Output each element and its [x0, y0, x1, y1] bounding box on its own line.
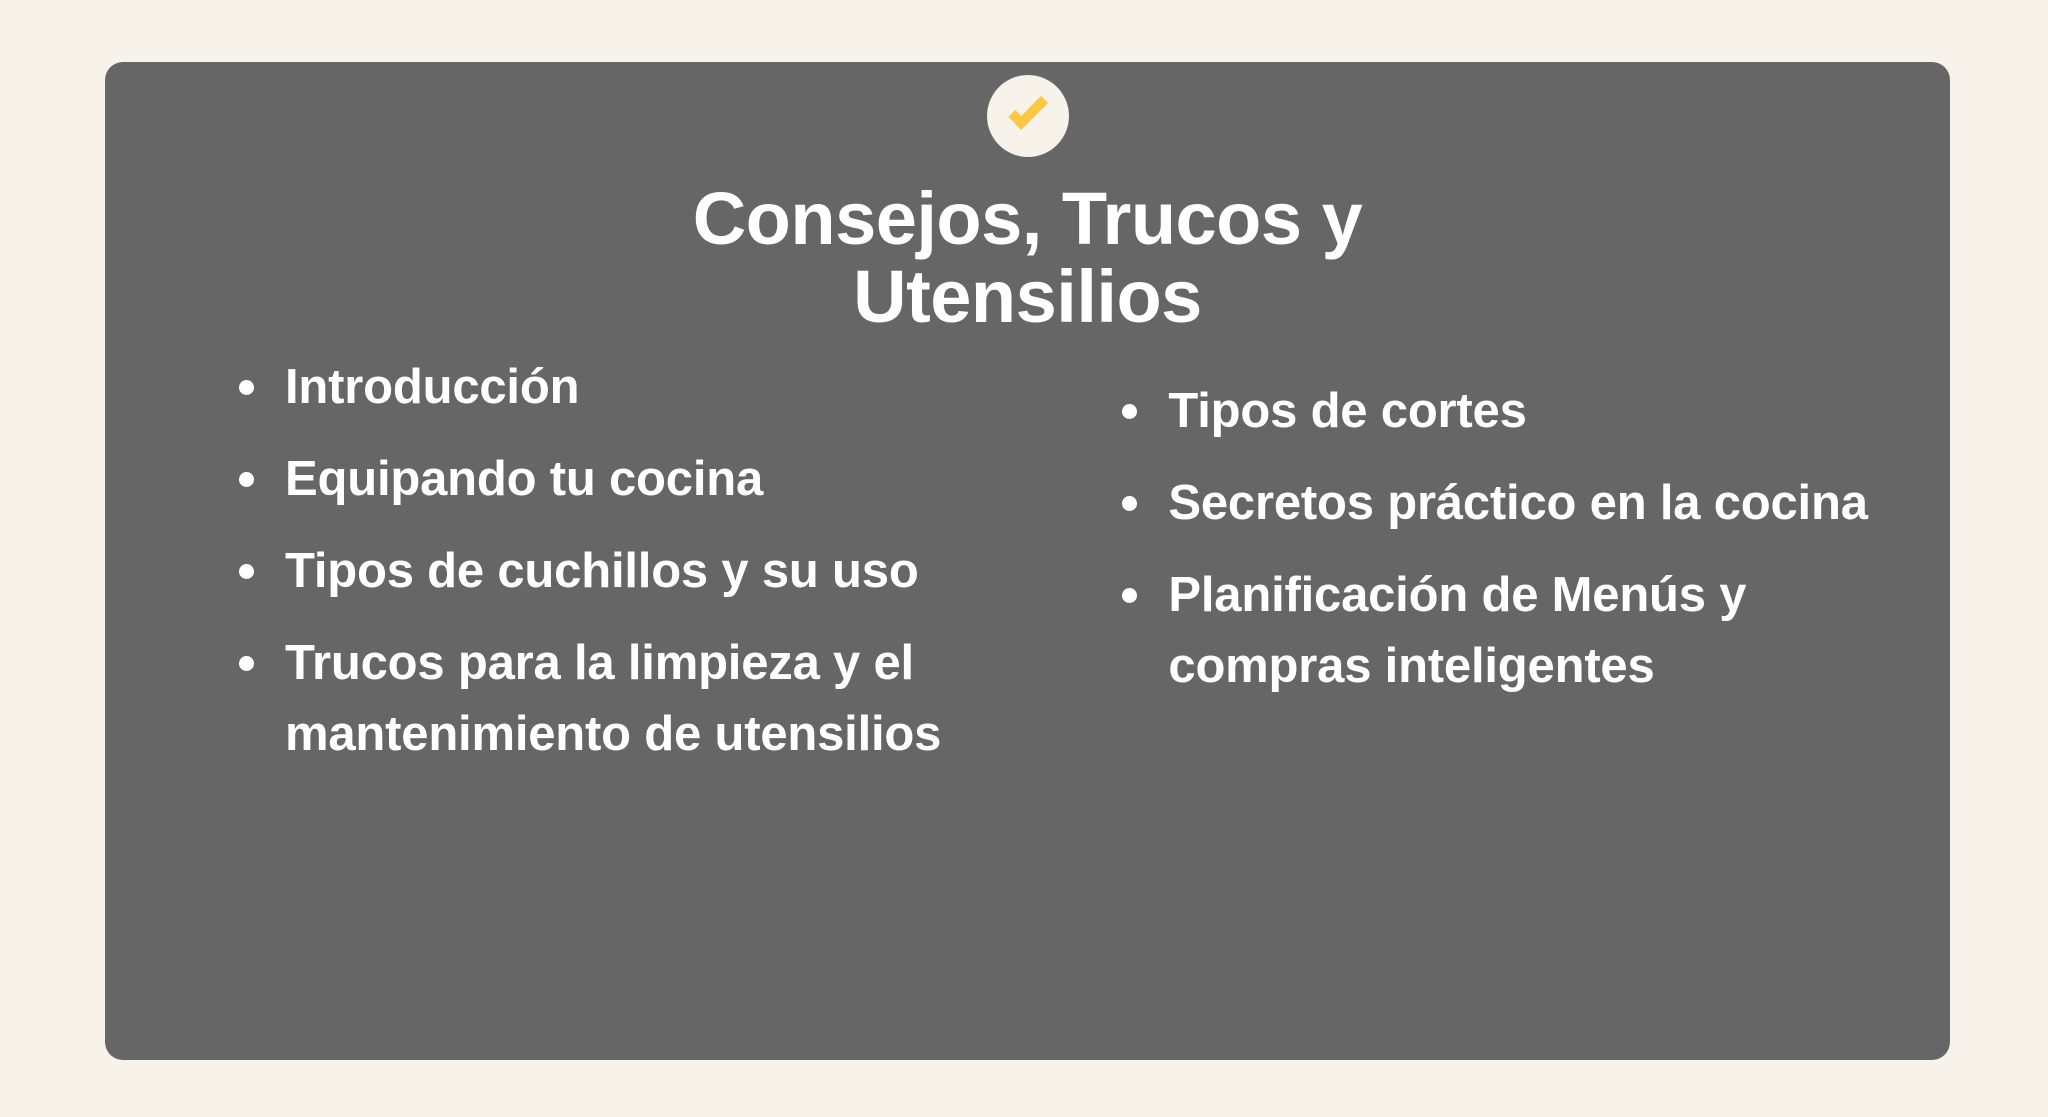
list-item-label: Trucos para la limpieza y el mantenimien…: [285, 636, 941, 761]
list-item: Tipos de cuchillos y su uso: [233, 536, 1034, 607]
list-item: Introducción: [233, 352, 1034, 423]
list-item: Equipando tu cocina: [233, 444, 1034, 515]
content-card: Consejos, Trucos y Utensilios Introducci…: [105, 62, 1950, 1060]
list-item-label: Tipos de cortes: [1168, 384, 1526, 438]
right-bullet-list: Tipos de cortes Secretos práctico en la …: [1116, 376, 1890, 702]
list-item: Planificación de Menús y compras intelig…: [1116, 560, 1890, 702]
left-bullet-list: Introducción Equipando tu cocina Tipos d…: [233, 352, 1034, 770]
list-item-label: Secretos práctico en la cocina: [1168, 476, 1867, 530]
list-item: Trucos para la limpieza y el mantenimien…: [233, 628, 1034, 770]
page-title: Consejos, Trucos y Utensilios: [105, 180, 1950, 337]
list-item-label: Planificación de Menús y compras intelig…: [1168, 568, 1746, 693]
list-item: Secretos práctico en la cocina: [1116, 468, 1890, 539]
list-item-label: Introducción: [285, 360, 579, 414]
check-circle-icon: [987, 75, 1069, 157]
list-item-label: Tipos de cuchillos y su uso: [285, 544, 919, 598]
list-item-label: Equipando tu cocina: [285, 452, 763, 506]
right-column: Tipos de cortes Secretos práctico en la …: [1064, 352, 1950, 723]
left-column: Introducción Equipando tu cocina Tipos d…: [105, 352, 1064, 791]
list-item: Tipos de cortes: [1116, 376, 1890, 447]
slide-root: Consejos, Trucos y Utensilios Introducci…: [0, 0, 2048, 1117]
bullet-columns: Introducción Equipando tu cocina Tipos d…: [105, 352, 1950, 791]
